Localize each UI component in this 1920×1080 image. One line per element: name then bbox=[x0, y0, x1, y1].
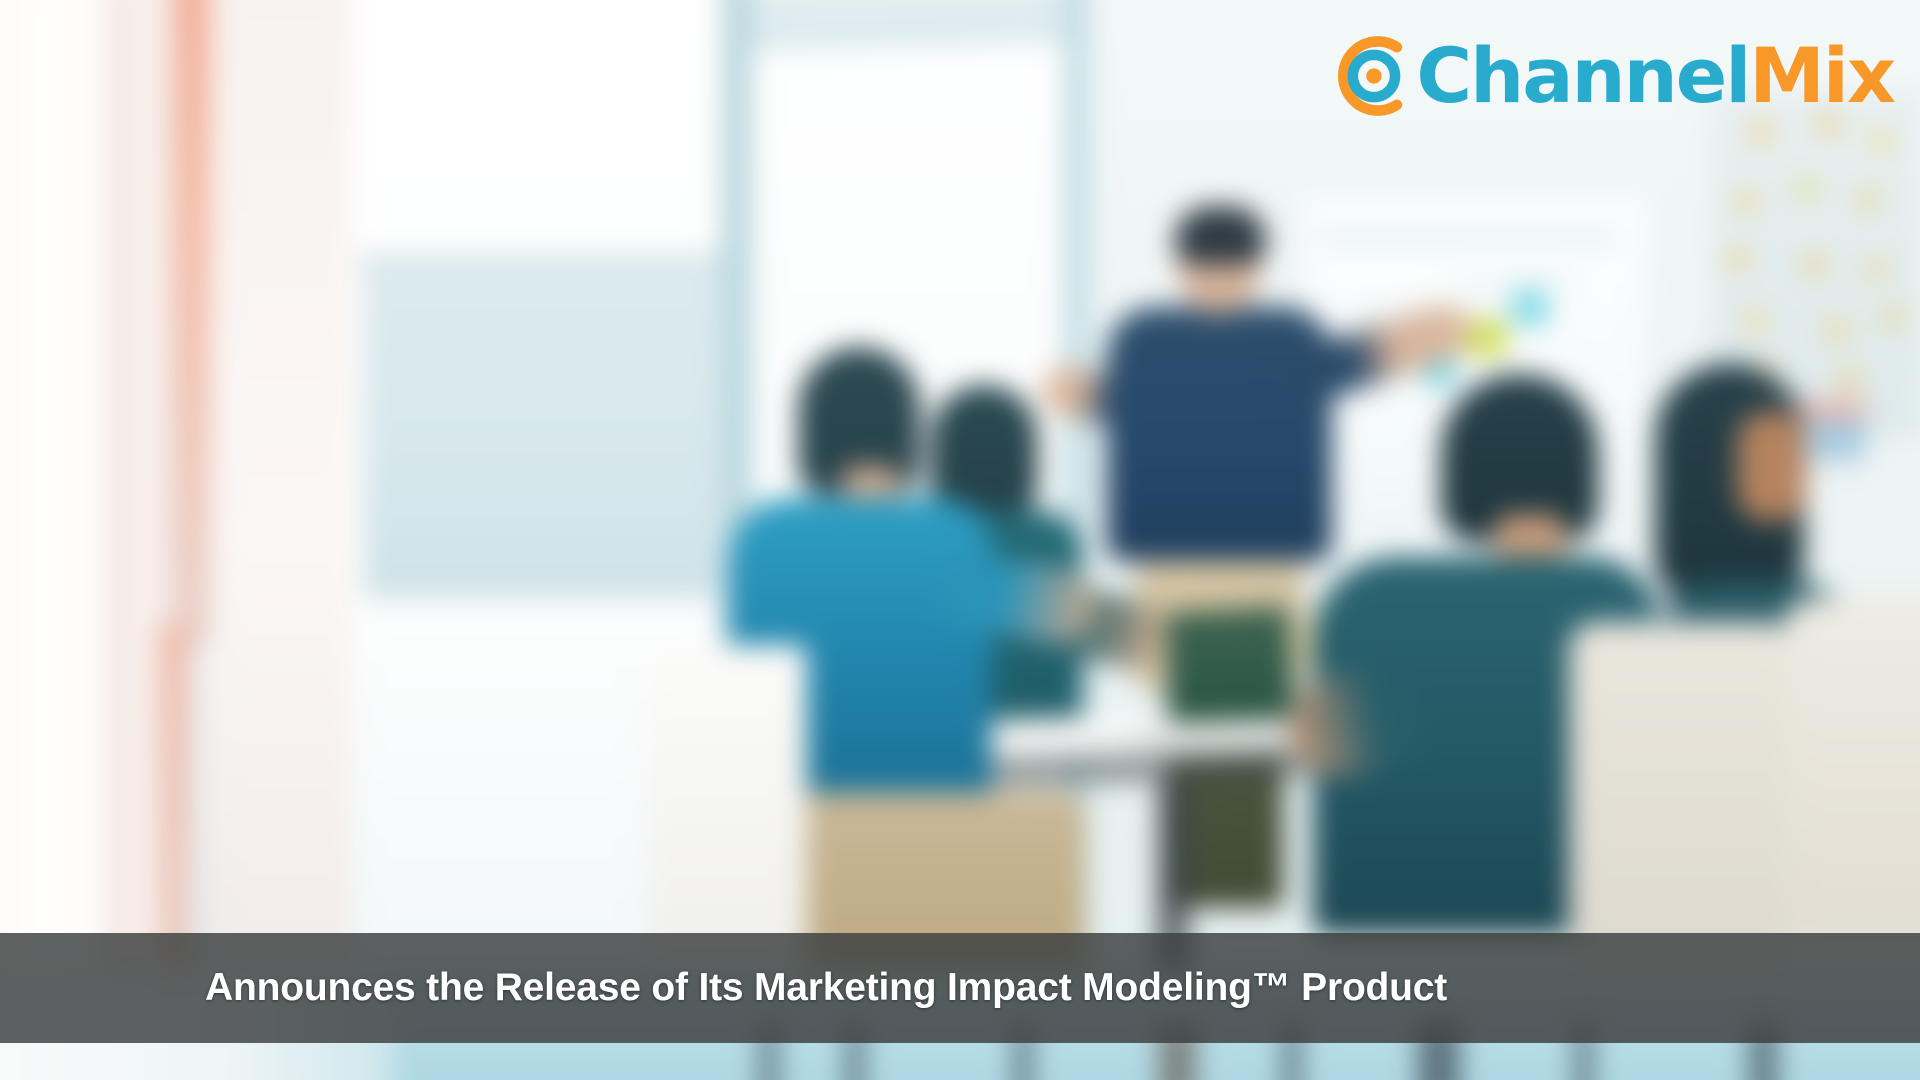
attendee-back-right-face bbox=[1737, 412, 1806, 521]
background-photo bbox=[0, 0, 1920, 1080]
sticky-note bbox=[1512, 290, 1548, 326]
glass-door-top-rail bbox=[751, 0, 1066, 50]
sticky-note bbox=[1865, 259, 1888, 280]
white-wall-panel bbox=[210, 0, 368, 1080]
attendee-back-left-hair bbox=[931, 385, 1038, 515]
sticky-note bbox=[1743, 311, 1766, 332]
sticky-note bbox=[1825, 319, 1848, 340]
sticky-note bbox=[1802, 254, 1825, 275]
sticky-note bbox=[1882, 307, 1905, 328]
whiteboard-marking bbox=[1317, 231, 1622, 244]
caption-bar: Announces the Release of Its Marketing I… bbox=[0, 933, 1920, 1043]
window-blind-panel bbox=[364, 263, 721, 599]
announcement-banner: ChannelMix Announces the Release of Its … bbox=[0, 0, 1920, 1080]
laptop-screen bbox=[1165, 606, 1295, 730]
channelmix-circle-mark-icon bbox=[1324, 28, 1420, 124]
sticky-note bbox=[1468, 319, 1506, 357]
sticky-note bbox=[1735, 191, 1758, 212]
whiteboard-marking bbox=[1454, 275, 1580, 284]
office-chair bbox=[1783, 599, 1920, 945]
sticky-note bbox=[1869, 131, 1892, 152]
channelmix-logo[interactable]: ChannelMix bbox=[1324, 28, 1894, 124]
presenter-torso bbox=[1107, 307, 1332, 561]
sticky-note bbox=[1750, 122, 1773, 143]
caption-headline: Announces the Release of Its Marketing I… bbox=[205, 966, 1447, 1010]
sticky-note bbox=[1727, 248, 1750, 269]
logo-word-channel: Channel bbox=[1416, 31, 1749, 120]
logo-wordmark: ChannelMix bbox=[1416, 38, 1894, 114]
logo-word-mix: Mix bbox=[1749, 31, 1894, 120]
sticky-note bbox=[1838, 370, 1861, 391]
presenter-hair bbox=[1174, 206, 1266, 265]
sticky-note bbox=[1796, 179, 1819, 200]
wall-edge-left bbox=[110, 0, 127, 1080]
salmon-column-lower bbox=[158, 624, 190, 970]
sticky-note bbox=[1857, 189, 1880, 210]
